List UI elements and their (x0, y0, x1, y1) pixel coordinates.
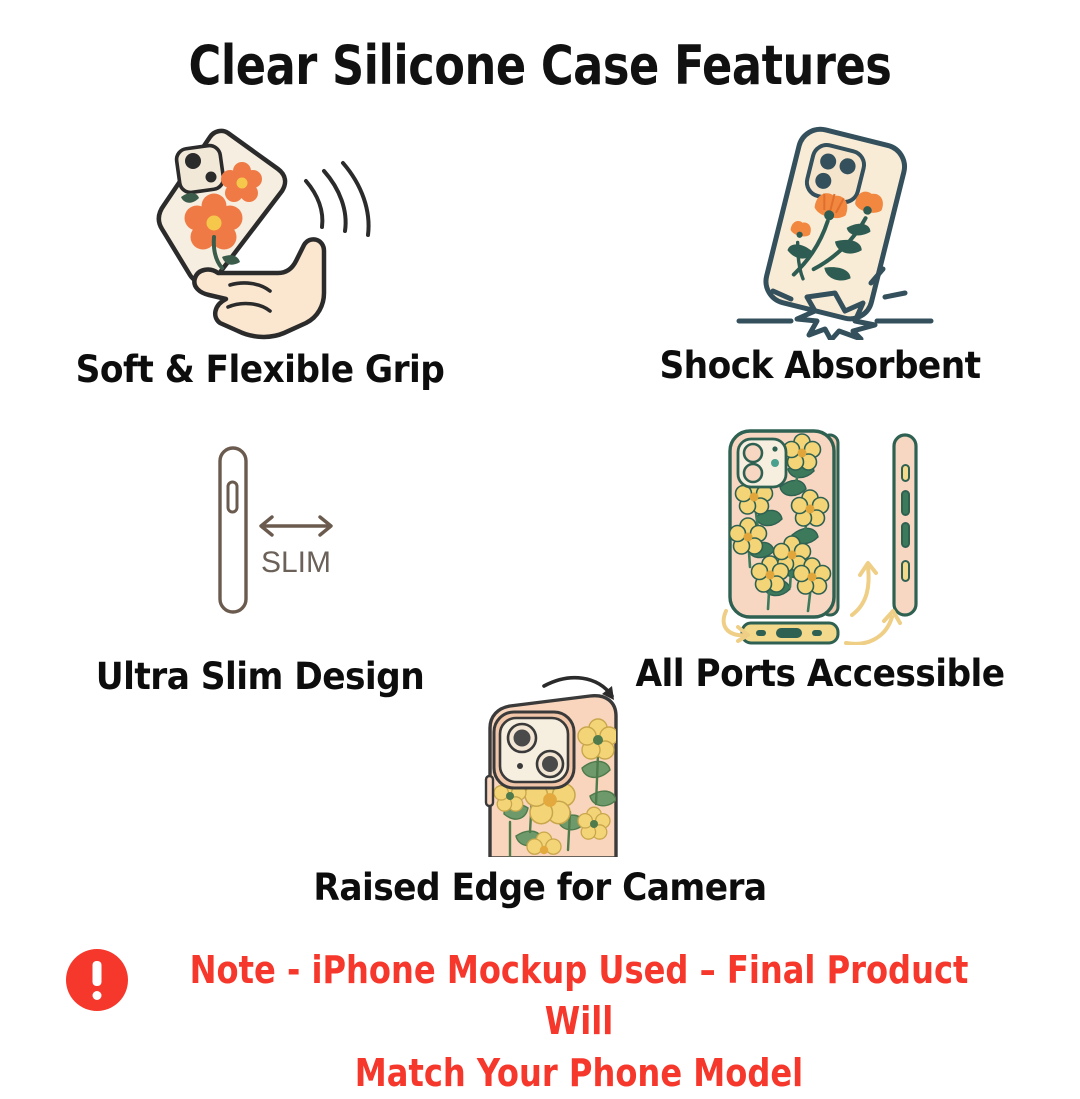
phone-case-impact-burst-icon (735, 125, 935, 340)
hand-holding-flexing-phone-case-icon (110, 125, 390, 340)
feature-label-ultra-slim-design: Ultra Slim Design (18, 655, 502, 698)
note-line-2: Match Your Phone Model (170, 1048, 988, 1099)
note-line-1: Note - iPhone Mockup Used – Final Produc… (170, 945, 988, 1048)
note-banner: Note - iPhone Mockup Used – Final Produc… (0, 945, 1080, 1099)
feature-label-shock-absorbent: Shock Absorbent (578, 344, 1062, 387)
phone-case-raised-camera-edge-icon (470, 672, 660, 857)
exclamation-dot (93, 991, 102, 1000)
feature-all-ports-accessible (718, 425, 938, 645)
feature-label-soft-flexible-grip: Soft & Flexible Grip (18, 348, 502, 391)
feature-raised-edge-for-camera (470, 672, 660, 857)
feature-label-raised-edge-for-camera: Raised Edge for Camera (298, 866, 782, 909)
note-text: Note - iPhone Mockup Used – Final Produc… (170, 945, 988, 1099)
feature-soft-flexible-grip (110, 125, 390, 340)
exclamation-bar (93, 961, 102, 986)
feature-shock-absorbent (735, 125, 935, 340)
exclamation-circle-icon (66, 949, 128, 1011)
feature-ultra-slim-design: SLIM (200, 440, 360, 620)
page-title: Clear Silicone Case Features (43, 34, 1037, 97)
phone-case-ports-cutouts-icon (718, 425, 938, 645)
phone-side-profile-slim-arrow-icon: SLIM (200, 440, 360, 620)
infographic-page: Clear Silicone Case Features (0, 0, 1080, 1080)
slim-caption: SLIM (261, 546, 331, 579)
